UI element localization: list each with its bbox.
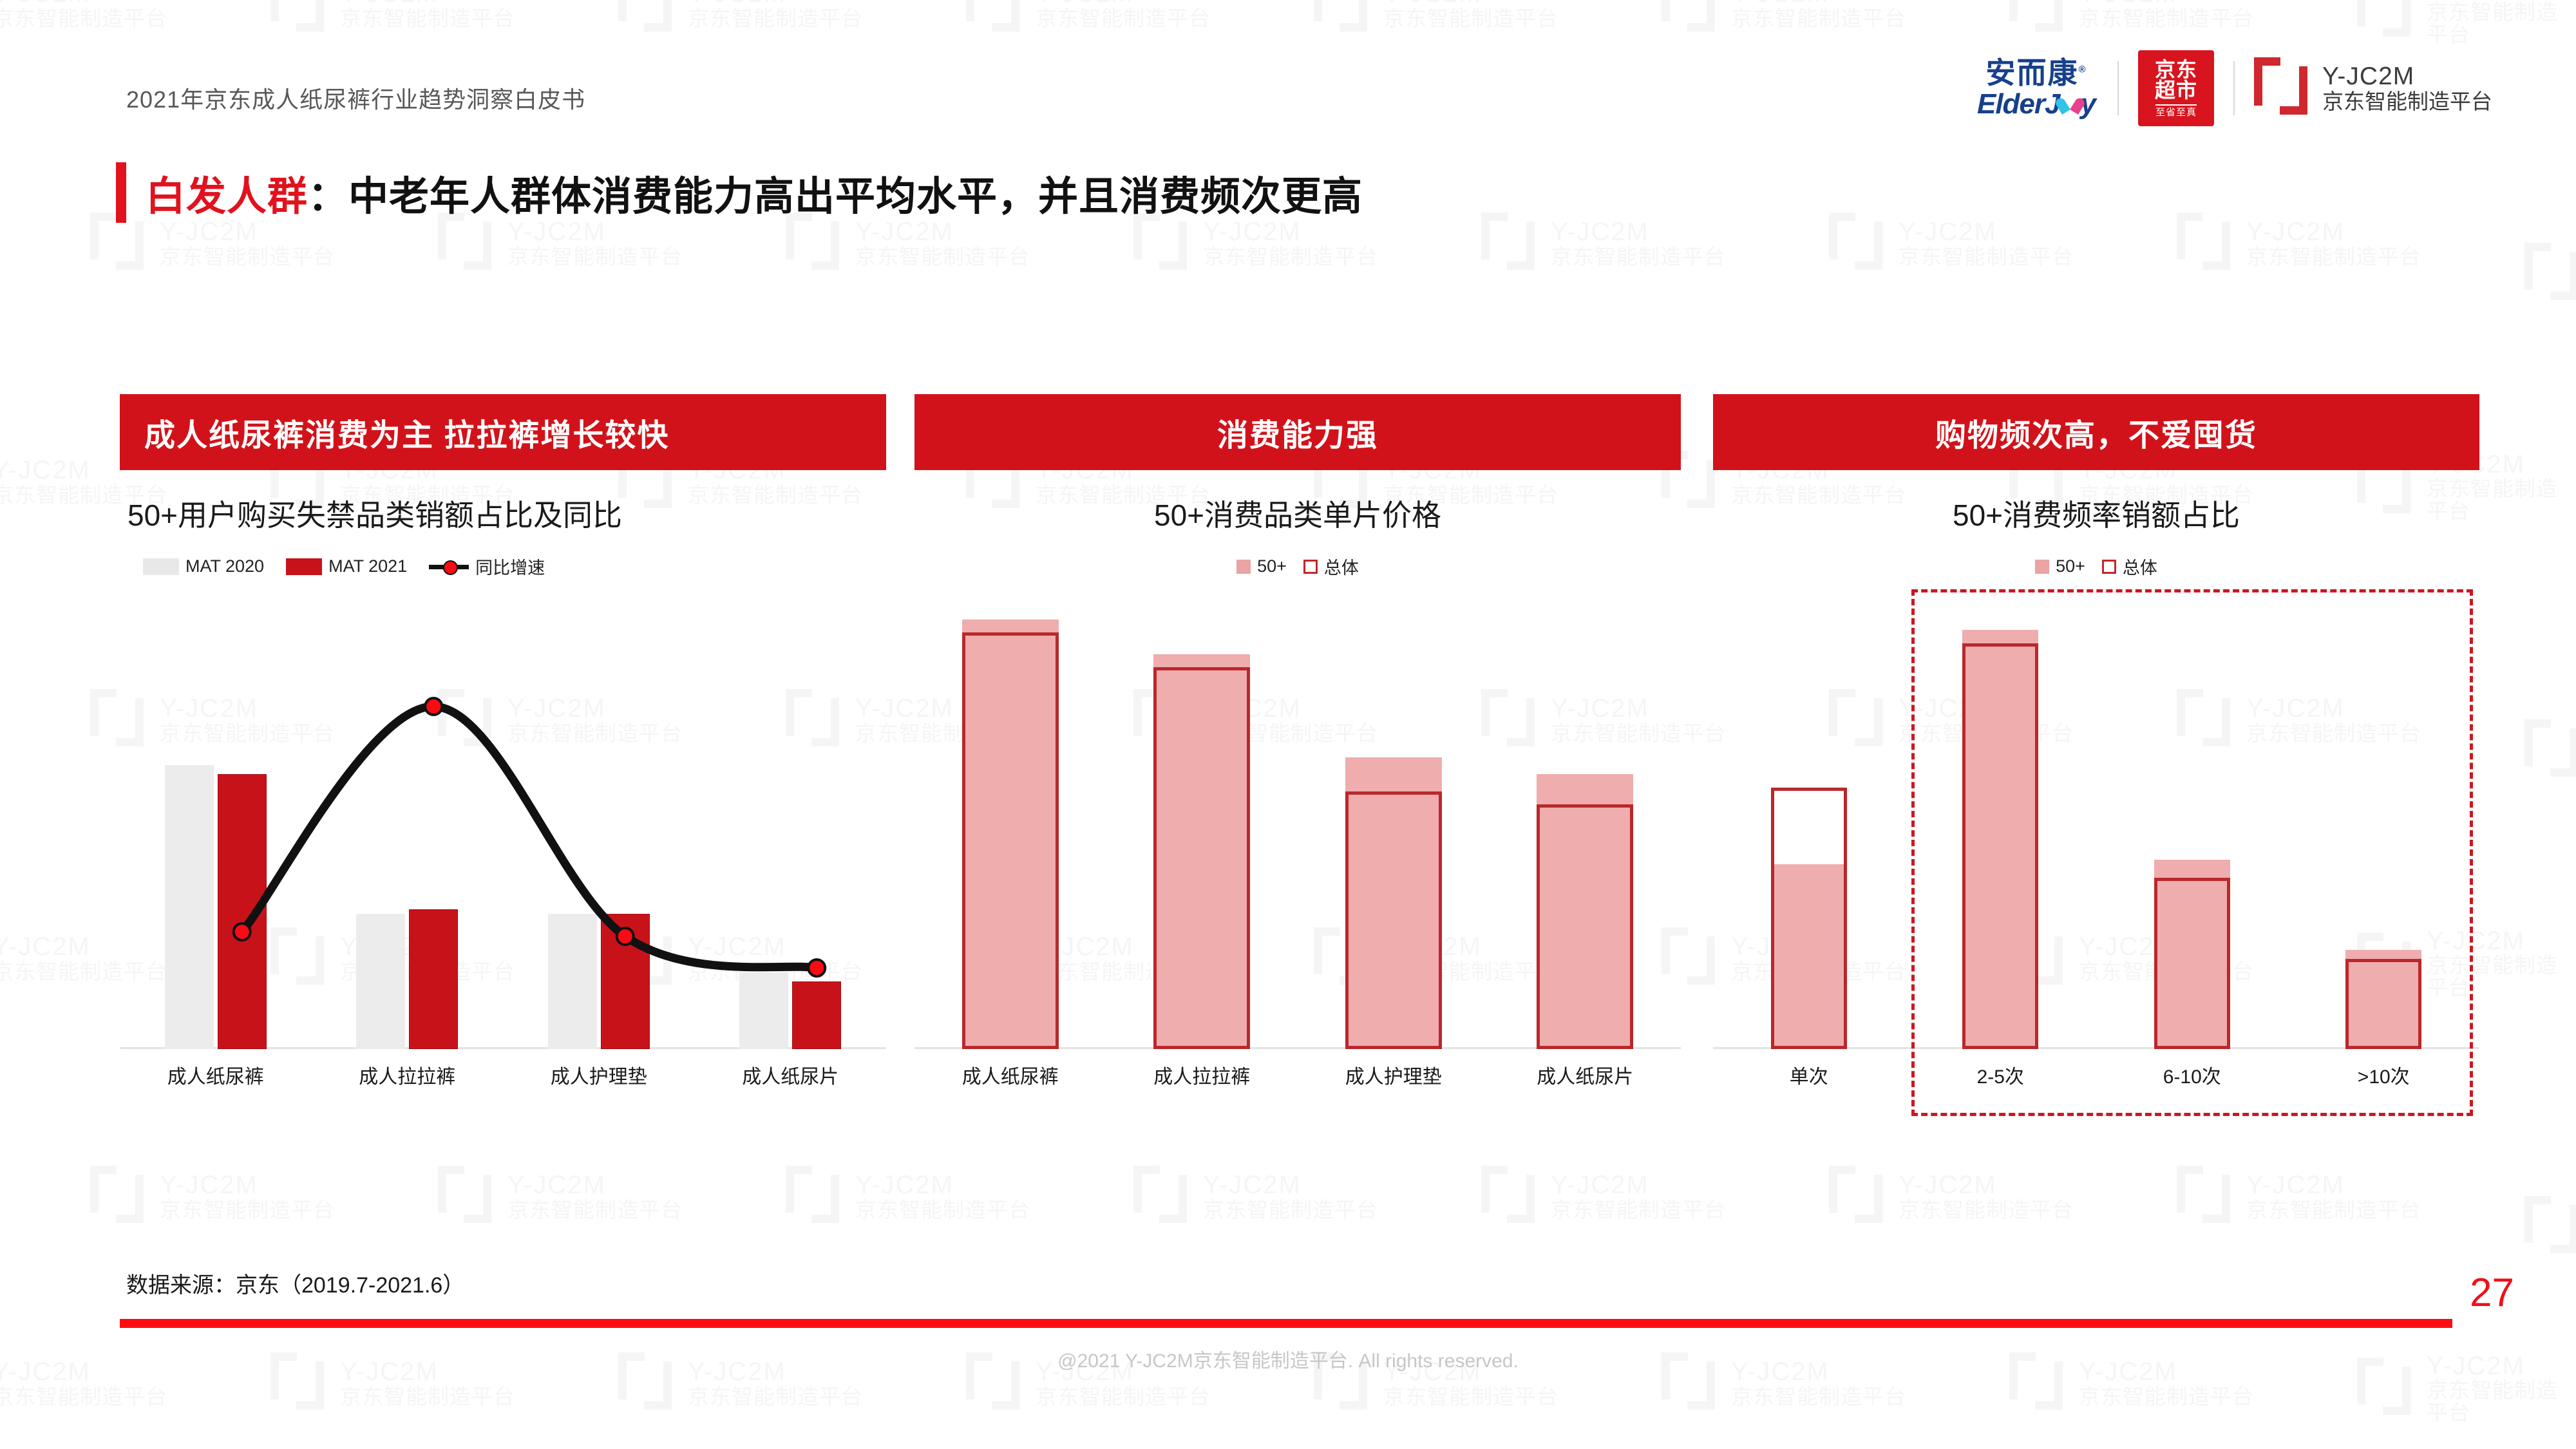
panel-2-header: 消费能力强	[914, 394, 1681, 470]
legend-item-mat2020[interactable]: MAT 2020	[143, 556, 264, 576]
legend-swatch-outline-icon	[1303, 560, 1318, 574]
watermark-item: Y-JC2M京东智能制造平台	[2524, 1166, 2576, 1288]
watermark-text: Y-JC2M京东智能制造平台	[1203, 218, 1378, 268]
headline-accent-text: 白发人群	[146, 175, 308, 219]
legend-label-overall-p3: 总体	[2123, 554, 2157, 579]
yjc2m-logo-text: Y-JC2M 京东智能制造平台	[2322, 63, 2492, 113]
watermark-mark-icon	[966, 0, 1021, 36]
watermark-mark-icon	[1481, 1166, 1537, 1227]
watermark-mark-icon	[2524, 1196, 2576, 1258]
legend-swatch-grey-icon	[143, 558, 179, 575]
watermark-item: Y-JC2M京东智能制造平台	[2524, 689, 2576, 811]
watermark-item: Y-JC2M京东智能制造平台	[2177, 1166, 2421, 1227]
yjc2m-name-en: Y-JC2M	[2322, 63, 2492, 90]
watermark-mark-icon	[2524, 243, 2576, 305]
elderjoy-cn-name: 安而康®	[1985, 58, 2087, 88]
jd-logo-line2: 超市	[2155, 80, 2197, 101]
chart-2-plot	[914, 598, 1681, 1049]
registered-mark-icon: ®	[2078, 64, 2087, 75]
watermark-mark-icon	[1481, 213, 1537, 274]
watermark-item: Y-JC2M京东智能制造平台	[1481, 1166, 1726, 1227]
watermark-mark-icon	[2357, 0, 2412, 41]
watermark-item: Y-JC2M京东智能制造平台	[2524, 213, 2576, 335]
watermark-item: Y-JC2M京东智能制造平台	[1829, 1166, 2074, 1227]
watermark-text: Y-JC2M京东智能制造平台	[688, 0, 863, 30]
elderjoy-en-name: ElderJy	[1977, 90, 2096, 118]
panel-category-share: 成人纸尿裤消费为主 拉拉裤增长较快 50+用户购买失禁品类销额占比及同比 MAT…	[120, 394, 886, 1089]
watermark-text: Y-JC2M京东智能制造平台	[1899, 1171, 2074, 1221]
watermark-mark-icon	[2177, 1166, 2232, 1227]
legend-label-overall-p2: 总体	[1324, 554, 1359, 579]
legend-item-50plus-p3[interactable]: 50+	[2035, 556, 2085, 576]
chart-1-x-labels: 成人纸尿裤成人拉拉裤成人护理垫成人纸尿片	[120, 1061, 886, 1089]
legend-label-mat2020: MAT 2020	[185, 556, 264, 576]
watermark-text: Y-JC2M京东智能制造平台	[507, 218, 683, 268]
x-axis-label: 成人纸尿片	[1490, 1061, 1681, 1089]
panel-3-header: 购物频次高，不爱囤货	[1713, 394, 2479, 470]
x-axis-label: >10次	[2288, 1061, 2480, 1089]
watermark-text: Y-JC2M京东智能制造平台	[1899, 218, 2074, 268]
watermark-item: Y-JC2M京东智能制造平台	[786, 1166, 1030, 1227]
yjc2m-logo: Y-JC2M 京东智能制造平台	[2254, 57, 2492, 119]
growth-line-marker	[234, 923, 251, 940]
bar-overall	[1345, 791, 1442, 1049]
copyright-notice: @2021 Y-JC2M京东智能制造平台. All rights reserve…	[0, 1345, 2576, 1373]
panel-3-subtitle: 50+消费频率销额占比	[1713, 492, 2479, 535]
watermark-item: Y-JC2M京东智能制造平台	[270, 0, 515, 36]
bar-overall	[962, 632, 1059, 1049]
watermark-text: Y-JC2M京东智能制造平台	[1731, 0, 1906, 30]
panel-unit-price: 消费能力强 50+消费品类单片价格 50+ 总体 成人纸尿裤成人拉拉裤成人护理垫…	[914, 394, 1681, 1089]
watermark-mark-icon	[90, 1166, 146, 1227]
panel-2-subtitle: 50+消费品类单片价格	[914, 492, 1681, 535]
x-axis-label: 成人护理垫	[1298, 1061, 1490, 1089]
watermark-item: Y-JC2M京东智能制造平台	[1662, 0, 1906, 36]
growth-line-marker	[425, 698, 442, 715]
legend-item-mat2021[interactable]: MAT 2021	[286, 556, 407, 576]
bar-overall	[1962, 643, 2038, 1049]
growth-line-path	[242, 706, 817, 968]
footer-rule	[120, 1319, 2452, 1328]
watermark-mark-icon	[1829, 213, 1884, 274]
watermark-text: Y-JC2M京东智能制造平台	[2246, 1171, 2421, 1221]
watermark-item: Y-JC2M京东智能制造平台	[1133, 1166, 1378, 1227]
chart-1-plot	[120, 598, 886, 1049]
headline: 白发人群：中老年人群体消费能力高出平均水平，并且消费频次更高	[116, 162, 1363, 223]
elderjoy-en-part1: Elder	[1977, 90, 2045, 118]
legend-swatch-outline-icon	[2102, 560, 2116, 574]
growth-line-marker	[808, 960, 825, 976]
logo-divider-2	[2233, 61, 2235, 115]
panel-1-header: 成人纸尿裤消费为主 拉拉裤增长较快	[120, 394, 886, 470]
watermark-mark-icon	[1133, 1166, 1189, 1227]
chart-2-x-labels: 成人纸尿裤成人拉拉裤成人护理垫成人纸尿片	[914, 1061, 1681, 1089]
watermark-text: Y-JC2M京东智能制造平台	[340, 0, 515, 30]
chart-3-plot	[1713, 598, 2479, 1049]
x-axis-label: 成人拉拉裤	[1106, 1061, 1298, 1089]
watermark-mark-icon	[786, 1166, 841, 1227]
legend-item-overall-p3[interactable]: 总体	[2102, 554, 2157, 579]
watermark-text: Y-JC2M京东智能制造平台	[1036, 0, 1211, 30]
watermark-item: Y-JC2M京东智能制造平台	[0, 0, 167, 36]
watermark-mark-icon	[1314, 0, 1369, 36]
legend-swatch-red-icon	[286, 558, 322, 575]
x-axis-label: 成人护理垫	[503, 1061, 695, 1089]
chart-3-x-labels: 单次2-5次6-10次>10次	[1713, 1061, 2479, 1089]
watermark-text: Y-JC2M京东智能制造平台	[1203, 1171, 1378, 1221]
elderjoy-logo: 安而康® ElderJy	[1977, 58, 2117, 118]
watermark-item: Y-JC2M京东智能制造平台	[90, 1166, 335, 1227]
x-axis-label: 2-5次	[1905, 1061, 2097, 1089]
watermark-mark-icon	[2009, 0, 2065, 36]
heart-icon	[2061, 97, 2080, 116]
watermark-item: Y-JC2M京东智能制造平台	[1829, 213, 2074, 274]
watermark-mark-icon	[1662, 0, 1717, 36]
yjc2m-mark-icon	[2254, 57, 2309, 119]
panel-3-legend: 50+ 总体	[1713, 554, 2479, 579]
bar-overall	[1537, 804, 1633, 1049]
legend-item-growth[interactable]: 同比增速	[429, 554, 545, 579]
headline-text: 白发人群：中老年人群体消费能力高出平均水平，并且消费频次更高	[146, 164, 1363, 222]
chart-1-growth-line	[120, 598, 886, 1049]
legend-item-50plus-p2[interactable]: 50+	[1236, 556, 1287, 576]
watermark-item: Y-JC2M京东智能制造平台	[438, 1166, 683, 1227]
watermark-item: Y-JC2M京东智能制造平台	[2357, 0, 2576, 46]
x-axis-label: 6-10次	[2096, 1061, 2288, 1089]
panel-purchase-frequency: 购物频次高，不爱囤货 50+消费频率销额占比 50+ 总体 单次2-5次6-10…	[1713, 394, 2479, 1089]
watermark-mark-icon	[270, 0, 326, 36]
headline-rest-text: ：中老年人群体消费能力高出平均水平，并且消费频次更高	[308, 175, 1363, 219]
bar-overall	[1771, 788, 1847, 1049]
watermark-text: Y-JC2M京东智能制造平台	[0, 0, 167, 30]
jd-logo-tagline: 至省至真	[2155, 104, 2197, 117]
watermark-mark-icon	[438, 1166, 493, 1227]
watermark-item: Y-JC2M京东智能制造平台	[618, 0, 863, 36]
watermark-text: Y-JC2M京东智能制造平台	[160, 1171, 335, 1221]
watermark-text: Y-JC2M京东智能制造平台	[507, 1171, 683, 1221]
legend-label-mat2021: MAT 2021	[328, 556, 407, 576]
bar-overall	[1153, 667, 1250, 1049]
headline-accent-bar	[116, 162, 126, 223]
watermark-text: Y-JC2M京东智能制造平台	[2079, 0, 2254, 30]
panel-1-legend: MAT 2020 MAT 2021 同比增速	[120, 554, 886, 579]
watermark-mark-icon	[618, 0, 674, 36]
growth-line-marker	[617, 928, 634, 945]
legend-swatch-pink-icon	[1236, 560, 1251, 574]
legend-swatch-pink-icon	[2035, 560, 2049, 574]
jd-supermarket-logo: 京东 超市 至省至真	[2138, 50, 2214, 126]
yjc2m-name-cn: 京东智能制造平台	[2322, 90, 2492, 113]
logo-bar: 安而康® ElderJy 京东 超市 至省至真 Y-JC2M 京东智能制造平台	[1977, 50, 2492, 126]
x-axis-label: 成人拉拉裤	[312, 1061, 504, 1089]
watermark-mark-icon	[1829, 1166, 1884, 1227]
source-note: 数据来源：京东（2019.7-2021.6）	[126, 1267, 464, 1299]
jd-logo-line1: 京东	[2155, 59, 2197, 80]
panel-1-subtitle: 50+用户购买失禁品类销额占比及同比	[120, 492, 886, 535]
watermark-item: Y-JC2M京东智能制造平台	[2009, 0, 2254, 36]
panel-2-legend: 50+ 总体	[914, 554, 1681, 579]
legend-swatch-line-marker-icon	[429, 558, 469, 575]
legend-item-overall-p2[interactable]: 总体	[1303, 554, 1359, 579]
watermark-item: Y-JC2M京东智能制造平台	[1314, 0, 1558, 36]
watermark-text: Y-JC2M京东智能制造平台	[855, 1171, 1030, 1221]
x-axis-label: 成人纸尿裤	[914, 1061, 1106, 1089]
bar-overall	[2154, 878, 2230, 1049]
watermark-text: Y-JC2M京东智能制造平台	[1551, 218, 1726, 268]
watermark-mark-icon	[2177, 213, 2232, 274]
x-axis-label: 成人纸尿裤	[120, 1061, 312, 1089]
watermark-item: Y-JC2M京东智能制造平台	[1481, 213, 1726, 274]
watermark-text: Y-JC2M京东智能制造平台	[1383, 0, 1558, 30]
watermark-text: Y-JC2M京东智能制造平台	[2427, 0, 2576, 46]
watermark-text: Y-JC2M京东智能制造平台	[855, 218, 1030, 268]
x-axis-label: 单次	[1713, 1061, 1905, 1089]
x-axis-label: 成人纸尿片	[695, 1061, 887, 1089]
legend-label-50plus-p2: 50+	[1257, 556, 1287, 576]
logo-divider-1	[2117, 61, 2119, 115]
document-title: 2021年京东成人纸尿裤行业趋势洞察白皮书	[126, 81, 585, 115]
watermark-text: Y-JC2M京东智能制造平台	[160, 218, 335, 268]
watermark-mark-icon	[2524, 719, 2576, 781]
elderjoy-cn-text: 安而康	[1985, 56, 2078, 90]
watermark-item: Y-JC2M京东智能制造平台	[966, 0, 1211, 36]
watermark-item: Y-JC2M京东智能制造平台	[2177, 213, 2421, 274]
page-number: 27	[2470, 1270, 2514, 1316]
legend-label-50plus-p3: 50+	[2056, 556, 2085, 576]
bar-overall	[2345, 959, 2421, 1049]
legend-label-growth: 同比增速	[475, 554, 545, 579]
watermark-text: Y-JC2M京东智能制造平台	[1551, 1171, 1726, 1221]
watermark-text: Y-JC2M京东智能制造平台	[2246, 218, 2421, 268]
